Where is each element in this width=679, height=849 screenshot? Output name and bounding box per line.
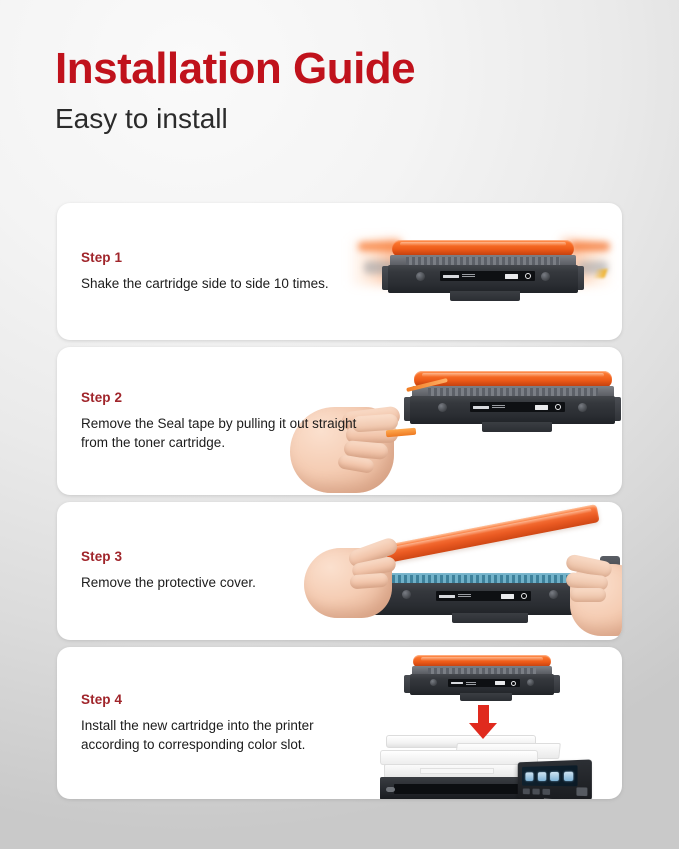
step-3-label: Step 3 bbox=[81, 549, 357, 564]
step-2-description: Remove the Seal tape by pulling it out s… bbox=[81, 414, 357, 452]
toner-cartridge-icon bbox=[410, 655, 554, 703]
step-1-text: Step 1 Shake the cartridge side to side … bbox=[57, 250, 357, 293]
toner-cartridge-icon bbox=[388, 240, 578, 302]
cartridge-color-dot-icon bbox=[555, 404, 561, 410]
cartridge-bottom-tab bbox=[450, 291, 520, 301]
panel-button[interactable] bbox=[523, 788, 530, 794]
step-1-description: Shake the cartridge side to side 10 time… bbox=[81, 274, 357, 293]
cartridge-bottom-tab bbox=[452, 613, 528, 623]
cartridge-vents bbox=[428, 388, 598, 396]
step-4-label: Step 4 bbox=[81, 692, 357, 707]
cartridge-bottom-tab bbox=[482, 422, 552, 432]
cartridge-body bbox=[388, 265, 578, 293]
printer-button-row[interactable] bbox=[523, 788, 577, 795]
page-subtitle: Easy to install bbox=[55, 104, 415, 135]
panel-app-icon[interactable] bbox=[526, 772, 534, 781]
step-4-text: Step 4 Install the new cartridge into th… bbox=[57, 692, 357, 754]
cartridge-bottom-tab bbox=[460, 693, 512, 701]
step-card-1: Step 1 Shake the cartridge side to side … bbox=[57, 203, 622, 340]
cartridge-model-number bbox=[495, 681, 505, 685]
step-3-illustration bbox=[352, 502, 622, 640]
page-title: Installation Guide bbox=[55, 46, 415, 92]
cartridge-label bbox=[440, 271, 535, 281]
seal-tape-tab-icon bbox=[386, 428, 416, 438]
step-1-label: Step 1 bbox=[81, 250, 357, 265]
cartridge-body bbox=[410, 396, 615, 424]
cartridge-label bbox=[470, 402, 565, 412]
cartridge-brand-mark-icon bbox=[439, 595, 455, 598]
printer-paper-cassette bbox=[394, 784, 524, 794]
cartridge-vents bbox=[406, 257, 560, 265]
step-card-2: Step 2 Remove the Seal tape by pulling i… bbox=[57, 347, 622, 495]
finger bbox=[570, 588, 606, 602]
cartridge-knob-right-icon bbox=[527, 679, 534, 686]
cartridge-color-dot-icon bbox=[511, 681, 516, 686]
printer-brand-logo-icon bbox=[576, 787, 587, 796]
cartridge-label-subtext bbox=[462, 274, 475, 278]
step-card-4: Step 4 Install the new cartridge into th… bbox=[57, 647, 622, 799]
step-4-illustration bbox=[352, 647, 622, 799]
step-2-label: Step 2 bbox=[81, 390, 357, 405]
cartridge-knob-left-icon bbox=[416, 272, 425, 281]
panel-app-icon[interactable] bbox=[550, 771, 559, 780]
cartridge-model-number bbox=[535, 405, 548, 410]
cartridge-model-number bbox=[505, 274, 518, 279]
cartridge-knob-left-icon bbox=[438, 403, 447, 412]
header: Installation Guide Easy to install bbox=[55, 46, 415, 135]
arrow-head bbox=[469, 723, 497, 739]
cartridge-brand-mark-icon bbox=[443, 275, 459, 278]
cartridge-label-subtext bbox=[492, 405, 505, 409]
step-4-description: Install the new cartridge into the print… bbox=[81, 716, 357, 754]
panel-button[interactable] bbox=[532, 789, 539, 795]
cartridge-label-subtext bbox=[458, 594, 471, 598]
cartridge-model-number bbox=[501, 594, 514, 599]
cartridge-body bbox=[410, 674, 554, 695]
step-1-illustration bbox=[352, 203, 622, 340]
step-2-illustration bbox=[352, 347, 622, 495]
motion-spark-icon bbox=[593, 269, 608, 278]
step-2-text: Step 2 Remove the Seal tape by pulling i… bbox=[57, 390, 357, 452]
panel-app-icon[interactable] bbox=[564, 771, 573, 780]
cartridge-label bbox=[436, 591, 531, 601]
installation-guide-page: Installation Guide Easy to install Step … bbox=[0, 0, 679, 849]
cartridge-label-subtext bbox=[466, 682, 476, 685]
step-3-text: Step 3 Remove the protective cover. bbox=[57, 549, 357, 592]
cartridge-color-dot-icon bbox=[521, 593, 527, 599]
step-card-3: Step 3 Remove the protective cover. bbox=[57, 502, 622, 640]
cartridge-brand-mark-icon bbox=[473, 406, 489, 409]
panel-button[interactable] bbox=[542, 789, 550, 795]
printer-paper-slot bbox=[420, 768, 494, 774]
cartridge-knob-right-icon bbox=[541, 272, 550, 281]
printer-touchscreen[interactable] bbox=[522, 765, 578, 786]
down-arrow-icon bbox=[468, 705, 498, 739]
printer-scanner-lid bbox=[380, 750, 538, 765]
printer-control-panel[interactable] bbox=[518, 759, 592, 799]
cartridge-knob-right-icon bbox=[578, 403, 587, 412]
cartridge-label bbox=[448, 679, 520, 687]
hand-right-icon bbox=[554, 554, 622, 638]
cartridge-brand-mark-icon bbox=[451, 682, 463, 684]
printer-icon bbox=[378, 735, 590, 799]
panel-app-icon[interactable] bbox=[538, 772, 546, 781]
cartridge-vents bbox=[392, 575, 568, 583]
arrow-shaft bbox=[478, 705, 489, 725]
steps-list: Step 1 Shake the cartridge side to side … bbox=[57, 203, 622, 806]
printer-power-button-icon[interactable] bbox=[386, 787, 395, 792]
cartridge-knob-left-icon bbox=[430, 679, 437, 686]
step-3-description: Remove the protective cover. bbox=[81, 573, 357, 592]
cartridge-color-dot-icon bbox=[525, 273, 531, 279]
